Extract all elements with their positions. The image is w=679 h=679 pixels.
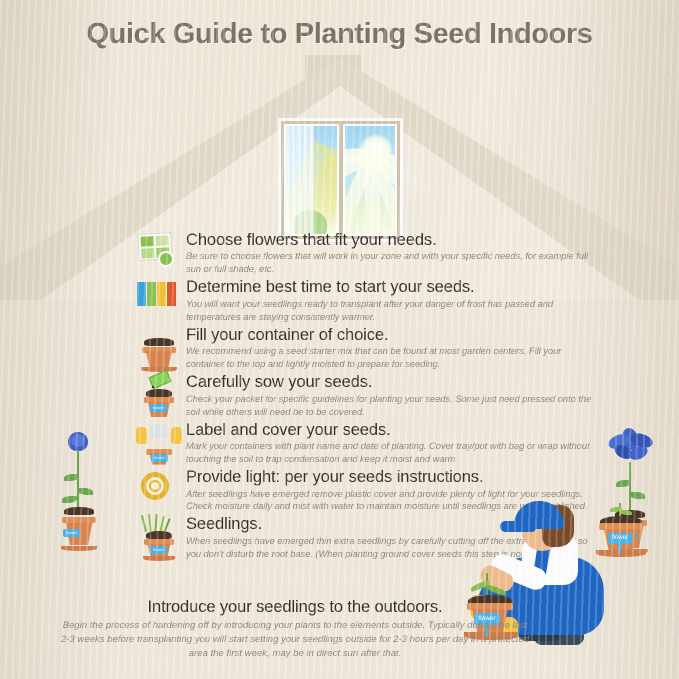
empty-pot-icon — [136, 326, 182, 372]
footer-description: Begin the process of hardening off by in… — [60, 619, 530, 662]
step-title: Determine best time to start your seeds. — [186, 278, 596, 296]
left-vignette — [0, 0, 120, 679]
page-title: Quick Guide to Planting Seed Indoors — [0, 18, 679, 51]
step-description: Be sure to choose flowers that will work… — [186, 250, 596, 276]
glove-icon — [171, 427, 182, 444]
left-flower-pot: flower — [44, 418, 114, 553]
step-item: Determine best time to start your seeds.… — [136, 278, 596, 323]
seed-packet-pouring-icon: flower — [136, 373, 182, 419]
step-title: Provide light: per your seeds instructio… — [186, 468, 596, 486]
footer-title: Introduce your seedlings to the outdoors… — [60, 598, 530, 617]
step-title: Carefully sow your seeds. — [186, 373, 596, 391]
window-pane-left — [284, 124, 339, 236]
step-item: Choose flowers that fit your needs. Be s… — [136, 231, 596, 276]
plant-label-tag: flower — [150, 404, 167, 412]
blue-lily-icon — [608, 428, 654, 464]
step-description: Check your packet for specific guideline… — [186, 393, 596, 419]
plant-label-tag: flower — [63, 529, 80, 537]
step-title: Label and cover your seeds. — [186, 421, 596, 439]
step-description: You will want your seedlings ready to tr… — [186, 298, 596, 324]
glove-icon — [136, 427, 147, 444]
step-description: We recommend using a seed starter mix th… — [186, 345, 596, 371]
step-item: flower Carefully sow your seeds. Check y… — [136, 373, 596, 418]
step-description: Mark your containers with plant name and… — [186, 440, 596, 466]
window-curtain — [286, 126, 314, 234]
window-with-sunlight — [281, 121, 400, 239]
step-title: Choose flowers that fit your needs. — [186, 231, 596, 249]
step-item: flower Label and cover your seeds. Mark … — [136, 421, 596, 466]
four-seasons-calendar-icon — [136, 278, 182, 324]
infographic-poster: Quick Guide to Planting Seed Indoors flo… — [0, 0, 679, 679]
cap-brim — [500, 521, 536, 532]
seed-catalog-icon — [136, 231, 182, 277]
step-item: Fill your container of choice. We recomm… — [136, 326, 596, 371]
footer-section: Introduce your seedlings to the outdoors… — [60, 598, 530, 662]
gardener-back-pot: flower — [592, 503, 652, 561]
plastic-cover-icon — [149, 424, 169, 438]
window-pane-right — [343, 124, 398, 236]
plant-label-tag: flower — [151, 454, 168, 462]
plant-label-tag: flower — [150, 546, 167, 554]
seedlings-pot-icon: flower — [136, 515, 182, 561]
step-title: Fill your container of choice. — [186, 326, 596, 344]
sun-light-ring-icon — [136, 468, 182, 514]
check-badge-icon — [158, 251, 174, 267]
gloves-covering-pot-icon: flower — [136, 421, 182, 467]
